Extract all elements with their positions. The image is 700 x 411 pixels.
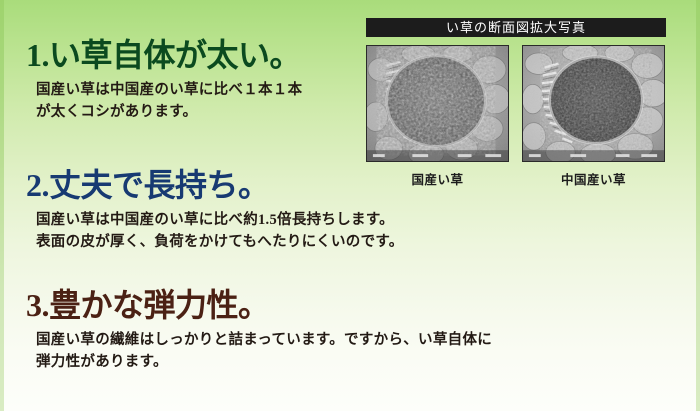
section-1-heading: 1.い草自体が太い。 bbox=[26, 38, 302, 73]
section-2-body-line-2: 表面の皮が厚く、負荷をかけてもへたりにくいのです。 bbox=[36, 231, 404, 253]
section-3-body-line-2: 弾力性があります。 bbox=[36, 351, 492, 373]
photo-cell-domestic: 国産い草 bbox=[366, 45, 509, 188]
section-3-heading: 3.豊かな弾力性。 bbox=[26, 288, 492, 323]
section-2-body: 国産い草は中国産のい草に比べ約1.5倍長持ちします。 表面の皮が厚く、負荷をかけ… bbox=[36, 209, 404, 253]
promo-banner: 1.い草自体が太い。 国産い草は中国産のい草に比べ１本１本 が太くコシがあります… bbox=[0, 0, 700, 411]
section-1-body-line-2: が太くコシがあります。 bbox=[36, 101, 302, 123]
section-3-body-line-1: 国産い草の繊維はしっかりと詰まっています。ですから、い草自体に bbox=[36, 329, 492, 351]
section-2: 2.丈夫で長持ち。 国産い草は中国産のい草に比べ約1.5倍長持ちします。 表面の… bbox=[26, 168, 404, 253]
section-3: 3.豊かな弾力性。 国産い草の繊維はしっかりと詰まっています。ですから、い草自体… bbox=[26, 288, 492, 373]
section-1-body-line-1: 国産い草は中国産のい草に比べ１本１本 bbox=[36, 79, 302, 101]
section-3-body: 国産い草の繊維はしっかりと詰まっています。ですから、い草自体に 弾力性があります… bbox=[36, 329, 492, 373]
section-2-body-line-1: 国産い草は中国産のい草に比べ約1.5倍長持ちします。 bbox=[36, 209, 404, 231]
photo-panel: い草の断面図拡大写真 bbox=[366, 18, 666, 188]
photo-caption-chinese: 中国産い草 bbox=[522, 169, 665, 188]
photo-caption-domestic: 国産い草 bbox=[366, 169, 509, 188]
section-1-body: 国産い草は中国産のい草に比べ１本１本 が太くコシがあります。 bbox=[36, 79, 302, 123]
photo-panel-title: い草の断面図拡大写真 bbox=[366, 18, 666, 37]
photo-cell-chinese: 中国産い草 bbox=[522, 45, 665, 188]
domestic-igusa-cross-section-image bbox=[366, 45, 509, 162]
chinese-igusa-cross-section-image bbox=[522, 45, 665, 162]
section-2-heading: 2.丈夫で長持ち。 bbox=[26, 168, 404, 203]
photo-row: 国産い草 bbox=[366, 45, 666, 188]
section-1: 1.い草自体が太い。 国産い草は中国産のい草に比べ１本１本 が太くコシがあります… bbox=[26, 38, 302, 123]
